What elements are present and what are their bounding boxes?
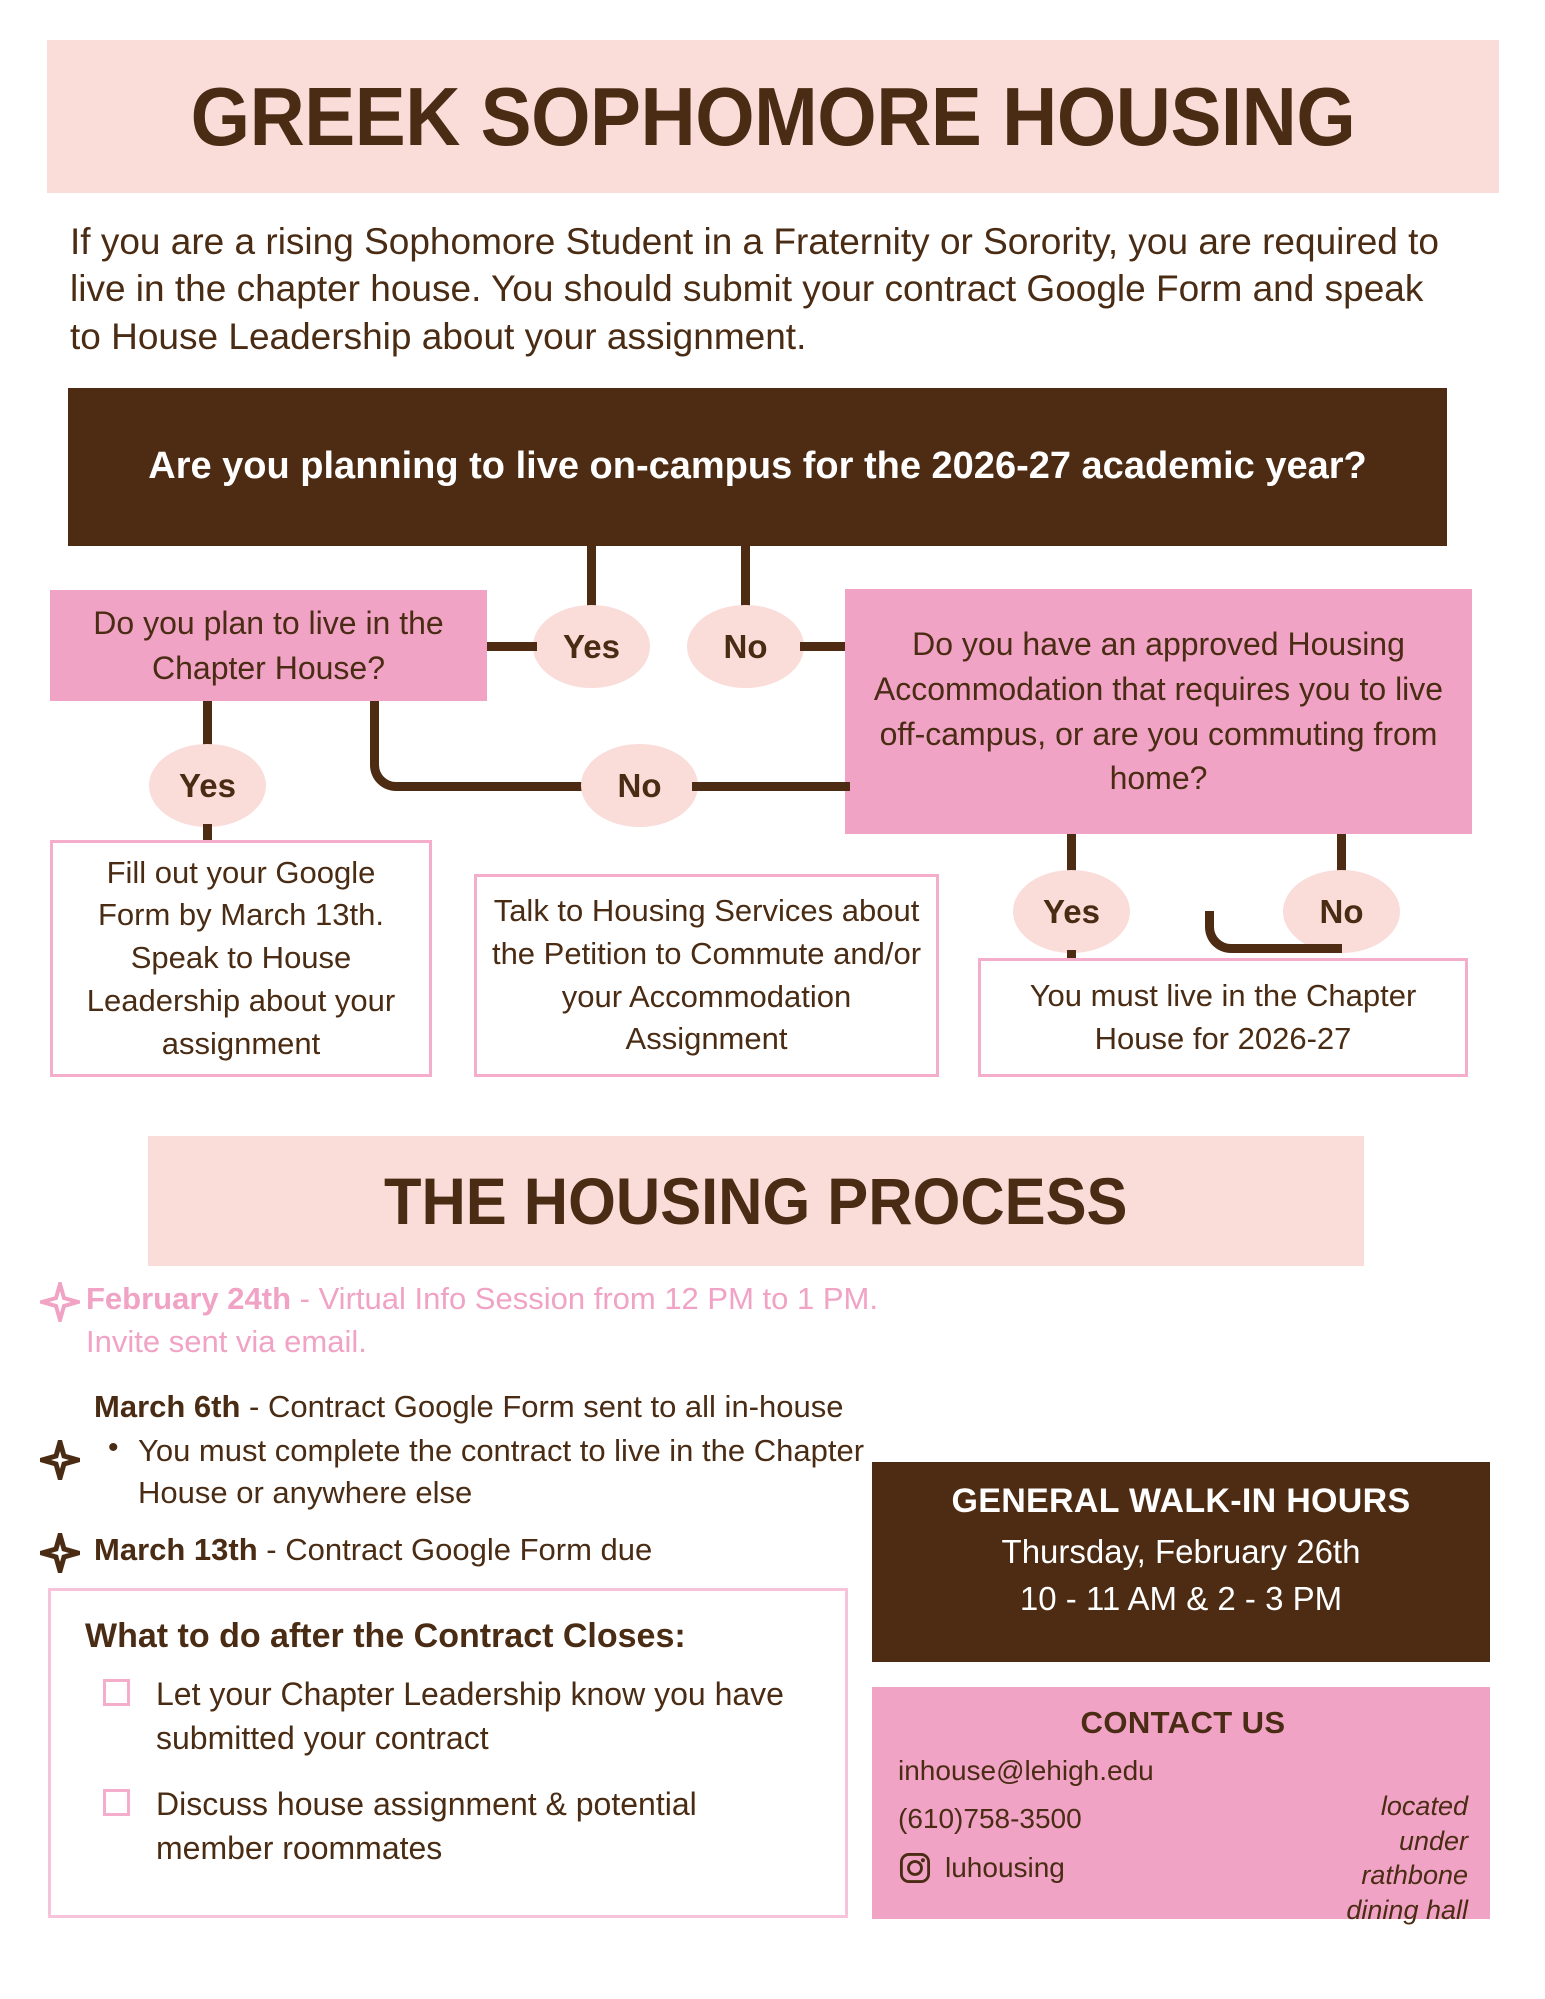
timeline-text: March 6th - Contract Google Form sent to… xyxy=(86,1386,920,1429)
process-heading: THE HOUSING PROCESS xyxy=(384,1163,1127,1239)
page-title: GREEK SOPHOMORE HOUSING xyxy=(191,69,1356,165)
checkbox-icon[interactable] xyxy=(103,1679,130,1706)
contact-phone[interactable]: (610)758-3500 xyxy=(898,1803,1318,1835)
checklist-item-label: Let your Chapter Leadership know you hav… xyxy=(156,1672,817,1760)
connector-root-yes xyxy=(587,546,596,606)
checkbox-icon[interactable] xyxy=(103,1789,130,1816)
timeline-item-mar13: March 13th - Contract Google Form due xyxy=(40,1529,920,1578)
timeline-text: February 24th - Virtual Info Session fro… xyxy=(86,1278,920,1364)
connector-elbow-to-no-mid xyxy=(414,782,589,791)
diamond-icon xyxy=(40,1529,86,1578)
timeline-item-feb24: February 24th - Virtual Info Session fro… xyxy=(40,1278,920,1364)
flowchart-root-question: Are you planning to live on-campus for t… xyxy=(68,388,1447,546)
timeline-date: March 6th xyxy=(94,1389,240,1424)
checklist-row-1[interactable]: Let your Chapter Leadership know you hav… xyxy=(85,1672,817,1760)
instagram-icon xyxy=(898,1851,932,1885)
flowchart-outcome-housing-services: Talk to Housing Services about the Petit… xyxy=(474,874,939,1077)
checklist-card: What to do after the Contract Closes: Le… xyxy=(48,1588,848,1918)
list-item: You must complete the contract to live i… xyxy=(108,1430,920,1513)
connector-right-question-yes xyxy=(1067,834,1076,874)
contact-details: inhouse@lehigh.edu (610)758-3500 luhousi… xyxy=(898,1755,1318,1927)
walkin-times: 10 - 11 AM & 2 - 3 PM xyxy=(872,1576,1490,1623)
poster-page: GREEK SOPHOMORE HOUSING If you are a ris… xyxy=(0,0,1545,1999)
diamond-icon xyxy=(40,1278,86,1327)
connector-no-right-elbow xyxy=(1205,911,1342,953)
contact-location: located under rathbone dining hall xyxy=(1318,1755,1468,1927)
connector-right-question-no xyxy=(1337,834,1346,874)
flowchart-outcome-fill-form: Fill out your Google Form by March 13th.… xyxy=(50,840,432,1077)
connector-root-no xyxy=(741,546,750,606)
connector-left-question-yes xyxy=(203,701,212,747)
connector-yes-to-left-question xyxy=(487,642,537,651)
intro-paragraph: If you are a rising Sophomore Student in… xyxy=(70,218,1440,360)
flowchart-pill-no-top: No xyxy=(687,605,804,688)
timeline-date: February 24th xyxy=(86,1281,291,1316)
walkin-title: GENERAL WALK-IN HOURS xyxy=(872,1482,1490,1521)
process-timeline: February 24th - Virtual Info Session fro… xyxy=(40,1278,920,1578)
timeline-item-mar6: March 6th - Contract Google Form sent to… xyxy=(40,1386,920,1514)
timeline-text: March 13th - Contract Google Form due xyxy=(86,1529,920,1572)
flowchart-outcome-must-live: You must live in the Chapter House for 2… xyxy=(978,958,1468,1077)
flowchart-pill-yes-top: Yes xyxy=(533,605,650,688)
flowchart-right-question: Do you have an approved Housing Accommod… xyxy=(845,589,1472,834)
timeline-desc: - Contract Google Form sent to all in-ho… xyxy=(240,1389,843,1424)
flowchart-pill-yes-right: Yes xyxy=(1013,870,1130,953)
connector-no-to-right-question xyxy=(800,642,848,651)
contact-title: CONTACT US xyxy=(898,1705,1468,1741)
timeline-date: March 13th xyxy=(94,1532,258,1567)
title-banner: GREEK SOPHOMORE HOUSING xyxy=(47,40,1499,193)
location-line-4: dining hall xyxy=(1318,1893,1468,1928)
walkin-date: Thursday, February 26th xyxy=(872,1529,1490,1576)
location-line-2: under xyxy=(1318,1824,1468,1859)
flowchart-left-question: Do you plan to live in the Chapter House… xyxy=(50,590,487,701)
contact-instagram-row[interactable]: luhousing xyxy=(898,1851,1318,1885)
checklist-title: What to do after the Contract Closes: xyxy=(85,1617,817,1656)
walkin-hours-card: GENERAL WALK-IN HOURS Thursday, February… xyxy=(872,1462,1490,1662)
location-line-3: rathbone xyxy=(1318,1858,1468,1893)
location-line-1: located xyxy=(1318,1789,1468,1824)
flowchart: Are you planning to live on-campus for t… xyxy=(0,380,1545,1100)
process-banner: THE HOUSING PROCESS xyxy=(148,1136,1364,1266)
flowchart-pill-yes-left: Yes xyxy=(149,744,266,827)
checklist-item-label: Discuss house assignment & potential mem… xyxy=(156,1782,817,1870)
contact-body: inhouse@lehigh.edu (610)758-3500 luhousi… xyxy=(898,1755,1468,1927)
contact-email[interactable]: inhouse@lehigh.edu xyxy=(898,1755,1318,1787)
contact-instagram-handle: luhousing xyxy=(945,1852,1065,1884)
connector-left-question-no-elbow xyxy=(370,701,418,791)
timeline-sub-list: You must complete the contract to live i… xyxy=(108,1430,920,1513)
flowchart-pill-no-middle: No xyxy=(581,744,698,827)
diamond-icon xyxy=(40,1386,86,1485)
connector-no-mid-to-right-question xyxy=(692,782,850,791)
contact-card: CONTACT US inhouse@lehigh.edu (610)758-3… xyxy=(872,1687,1490,1919)
checklist-row-2[interactable]: Discuss house assignment & potential mem… xyxy=(85,1782,817,1870)
timeline-desc: - Contract Google Form due xyxy=(258,1532,653,1567)
